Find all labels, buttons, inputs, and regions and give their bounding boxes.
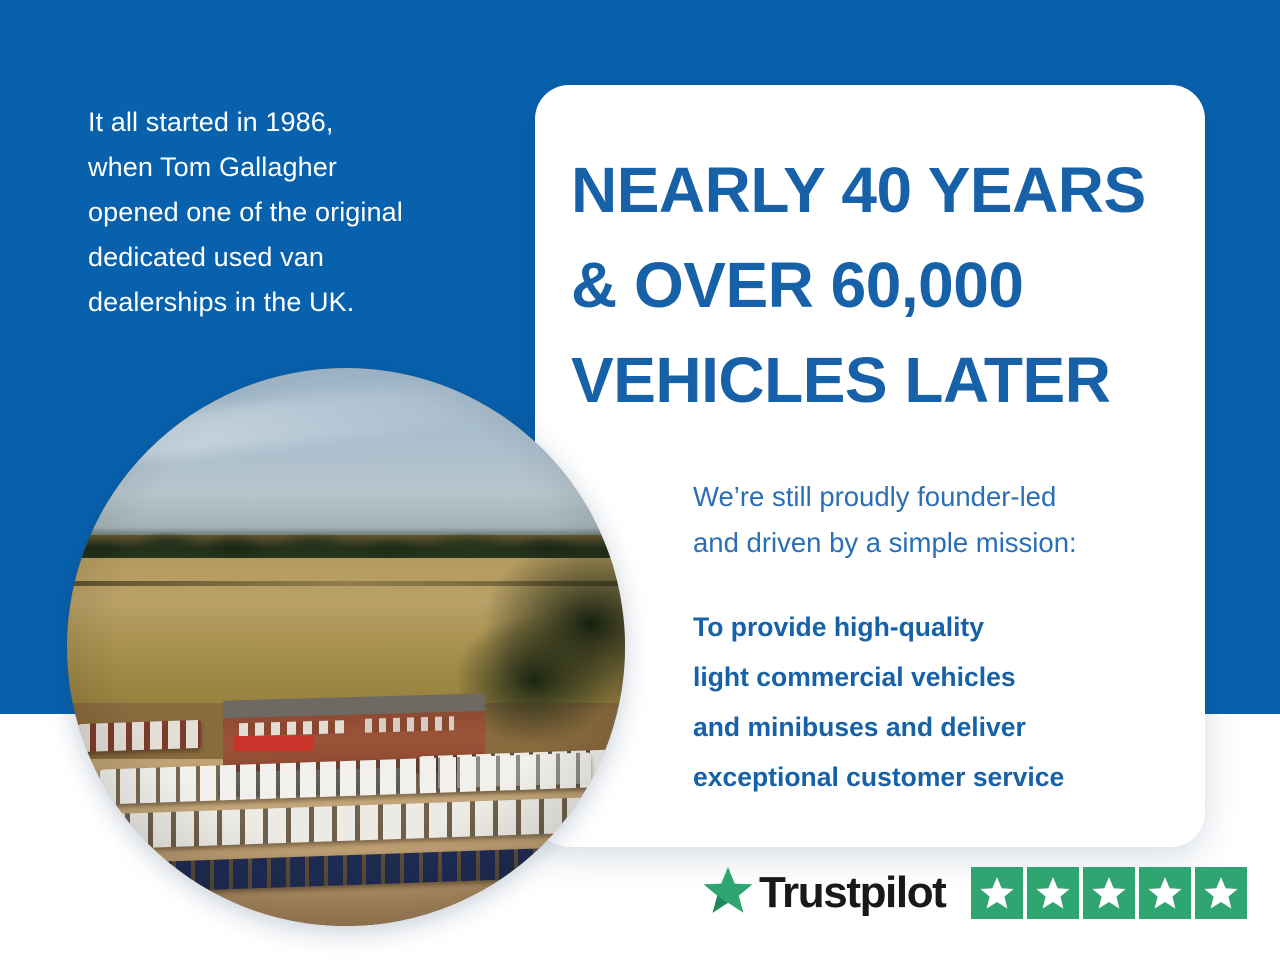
mission-line: and minibuses and deliver	[693, 702, 1163, 752]
trustpilot-star-filled-icon	[1027, 867, 1079, 919]
intro-line: opened one of the original	[88, 197, 403, 227]
photo-vignette	[67, 368, 625, 926]
lede-line: We’re still proudly founder-led	[693, 474, 1163, 520]
trustpilot-stars	[971, 867, 1247, 919]
trustpilot-logo[interactable]: Trustpilot	[703, 866, 945, 919]
content-card-body: NEARLY 40 YEARS & OVER 60,000 VEHICLES L…	[571, 143, 1177, 802]
intro-line: dedicated used van	[88, 242, 324, 272]
content-card: NEARLY 40 YEARS & OVER 60,000 VEHICLES L…	[535, 85, 1205, 847]
headline-line: & OVER 60,000	[571, 238, 1177, 333]
intro-line: It all started in 1986,	[88, 107, 333, 137]
marketing-banner: It all started in 1986, when Tom Gallagh…	[0, 0, 1280, 960]
trustpilot-rating[interactable]: Trustpilot	[703, 866, 1247, 919]
mission-line: light commercial vehicles	[693, 652, 1163, 702]
mission-statement: To provide high-quality light commercial…	[693, 602, 1163, 802]
dealership-photo	[67, 368, 625, 926]
headline-line: NEARLY 40 YEARS	[571, 143, 1177, 238]
trustpilot-star-filled-icon	[1083, 867, 1135, 919]
intro-paragraph: It all started in 1986, when Tom Gallagh…	[88, 100, 488, 325]
mission-line: To provide high-quality	[693, 602, 1163, 652]
intro-line: dealerships in the UK.	[88, 287, 354, 317]
dealership-photo-image	[67, 368, 625, 926]
intro-line: when Tom Gallagher	[88, 152, 337, 182]
trustpilot-wordmark: Trustpilot	[759, 871, 945, 915]
trustpilot-star-filled-icon	[1139, 867, 1191, 919]
mission-line: exceptional customer service	[693, 752, 1163, 802]
lede-paragraph: We’re still proudly founder-led and driv…	[693, 474, 1163, 566]
trustpilot-star-icon	[703, 866, 753, 919]
lede-line: and driven by a simple mission:	[693, 520, 1163, 566]
page-title: NEARLY 40 YEARS & OVER 60,000 VEHICLES L…	[571, 143, 1177, 428]
trustpilot-star-filled-icon	[971, 867, 1023, 919]
trustpilot-star-filled-icon	[1195, 867, 1247, 919]
headline-line: VEHICLES LATER	[571, 333, 1177, 428]
